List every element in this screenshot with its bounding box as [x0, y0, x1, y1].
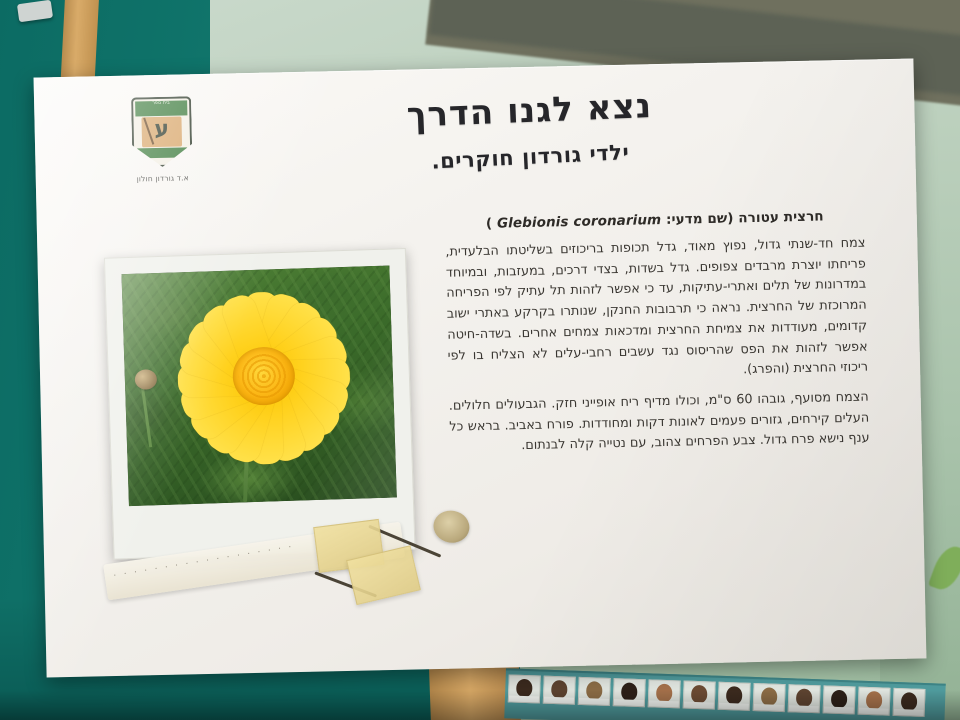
- room-scene: בית ספר ע א.ד גורדון חולון נצא לגנו הדרך…: [0, 0, 960, 720]
- flower-photograph: [121, 266, 396, 507]
- poster-title: נצא לגנו הדרך: [364, 84, 695, 137]
- article-body: חרצית עטורה (שם מדעי: Glebionis coronari…: [445, 208, 870, 468]
- school-name-caption: א.ד גורדון חולון: [108, 173, 218, 184]
- article-heading-hebrew: חרצית עטורה (שם מדעי:: [666, 208, 824, 227]
- article-paragraph: צמח חד-שנתי גדול, נפוץ מאוד, גדל תכופות …: [445, 234, 868, 388]
- school-shield-icon: בית ספר ע: [131, 96, 193, 167]
- flower-photo-frame: [104, 248, 416, 560]
- exhibit-poster: בית ספר ע א.ד גורדון חולון נצא לגנו הדרך…: [34, 58, 927, 677]
- poster-subtitle: ילדי גורדון חוקרים.: [365, 137, 696, 177]
- shield-letter: ע: [154, 119, 169, 141]
- crown-daisy-flower: [166, 286, 362, 467]
- article-heading: חרצית עטורה (שם מדעי: Glebionis coronari…: [445, 208, 865, 233]
- article-heading-close: ): [486, 216, 493, 232]
- floor-shadow: [0, 690, 960, 720]
- article-paragraph: הצמח מסועף, גובהו 60 ס"מ, וכולו מדיף ריח…: [449, 388, 870, 459]
- school-emblem: בית ספר ע א.ד גורדון חולון: [106, 96, 218, 184]
- pressed-dried-flower: [431, 508, 472, 546]
- article-scientific-name: Glebionis coronarium: [497, 212, 662, 232]
